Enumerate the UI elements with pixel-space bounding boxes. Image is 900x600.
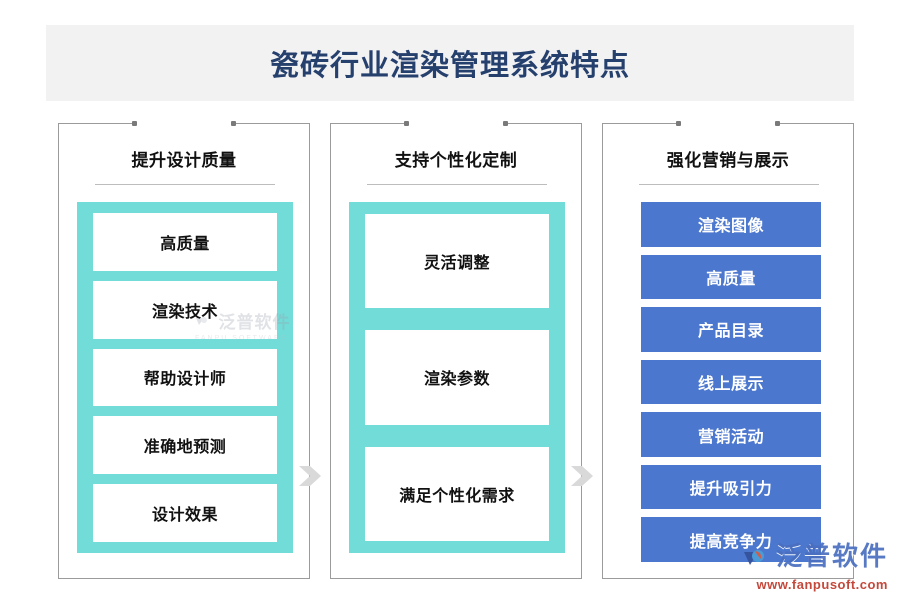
column-header-divider [639,184,819,185]
list-item[interactable]: 产品目录 [641,307,821,352]
list-item-label: 渲染图像 [698,212,764,236]
list-item-label: 满足个性化需求 [399,482,515,506]
list-item-label: 提高竞争力 [690,528,773,552]
list-item[interactable]: 渲染技术 [93,281,277,339]
list-item-label: 高质量 [160,230,210,254]
list-item-label: 营销活动 [698,423,764,447]
column-header-label: 强化营销与展示 [667,151,790,170]
list-item-label: 产品目录 [698,317,764,341]
list-item-label: 渲染参数 [424,365,490,389]
panel-top-notch [678,121,778,126]
list-item[interactable]: 灵活调整 [365,214,549,308]
column-panel-3: 强化营销与展示 渲染图像 高质量 产品目录 线上展示 营销活动 提升吸引力 [602,123,854,579]
list-item[interactable]: 高质量 [93,213,277,271]
column-header-3: 强化营销与展示 [603,146,853,171]
panel-top-notch [406,121,506,126]
column-header-2: 支持个性化定制 [331,146,581,171]
column-item-stack-3: 渲染图像 高质量 产品目录 线上展示 营销活动 提升吸引力 提高竞争力 [641,202,821,562]
list-item-label: 渲染技术 [152,298,218,322]
list-item[interactable]: 满足个性化需求 [365,447,549,541]
list-item[interactable]: 高质量 [641,255,821,300]
panel-notch-dot-left [132,121,137,126]
column-item-stack-2: 灵活调整 渲染参数 满足个性化需求 [349,202,565,553]
list-item-label: 准确地预测 [144,433,227,457]
list-item[interactable]: 线上展示 [641,360,821,405]
column-header-divider [95,184,275,185]
list-item-label: 设计效果 [152,501,218,525]
title-banner: 瓷砖行业渲染管理系统特点 [46,25,854,101]
list-item[interactable]: 设计效果 [93,484,277,542]
list-item[interactable]: 准确地预测 [93,416,277,474]
panel-notch-dot-left [676,121,681,126]
list-item[interactable]: 提升吸引力 [641,465,821,510]
column-panel-1: 提升设计质量 高质量 渲染技术 帮助设计师 准确地预测 设计效果 [58,123,310,579]
chevron-right-icon [299,463,321,489]
column-header-divider [367,184,547,185]
list-item-label: 灵活调整 [424,249,490,273]
column-header-label: 提升设计质量 [132,151,237,170]
column-item-stack-1: 高质量 渲染技术 帮助设计师 准确地预测 设计效果 [77,202,293,553]
column-header-label: 支持个性化定制 [395,151,518,170]
panel-top-notch [134,121,234,126]
columns-container: 提升设计质量 高质量 渲染技术 帮助设计师 准确地预测 设计效果 [0,123,900,579]
list-item-label: 线上展示 [698,370,764,394]
list-item-label: 提升吸引力 [690,475,773,499]
chevron-right-icon [571,463,593,489]
page-title: 瓷砖行业渲染管理系统特点 [270,42,630,84]
panel-notch-dot-left [404,121,409,126]
list-item[interactable]: 渲染图像 [641,202,821,247]
list-item-label: 高质量 [706,265,756,289]
list-item-label: 帮助设计师 [144,365,227,389]
list-item[interactable]: 提高竞争力 [641,517,821,562]
list-item[interactable]: 营销活动 [641,412,821,457]
watermark-url: www.fanpusoft.com [742,577,888,592]
list-item[interactable]: 帮助设计师 [93,349,277,407]
column-panel-2: 支持个性化定制 灵活调整 渲染参数 满足个性化需求 [330,123,582,579]
list-item[interactable]: 渲染参数 [365,330,549,424]
panel-notch-dot-right [775,121,780,126]
column-header-1: 提升设计质量 [59,146,309,171]
panel-notch-dot-right [231,121,236,126]
panel-notch-dot-right [503,121,508,126]
